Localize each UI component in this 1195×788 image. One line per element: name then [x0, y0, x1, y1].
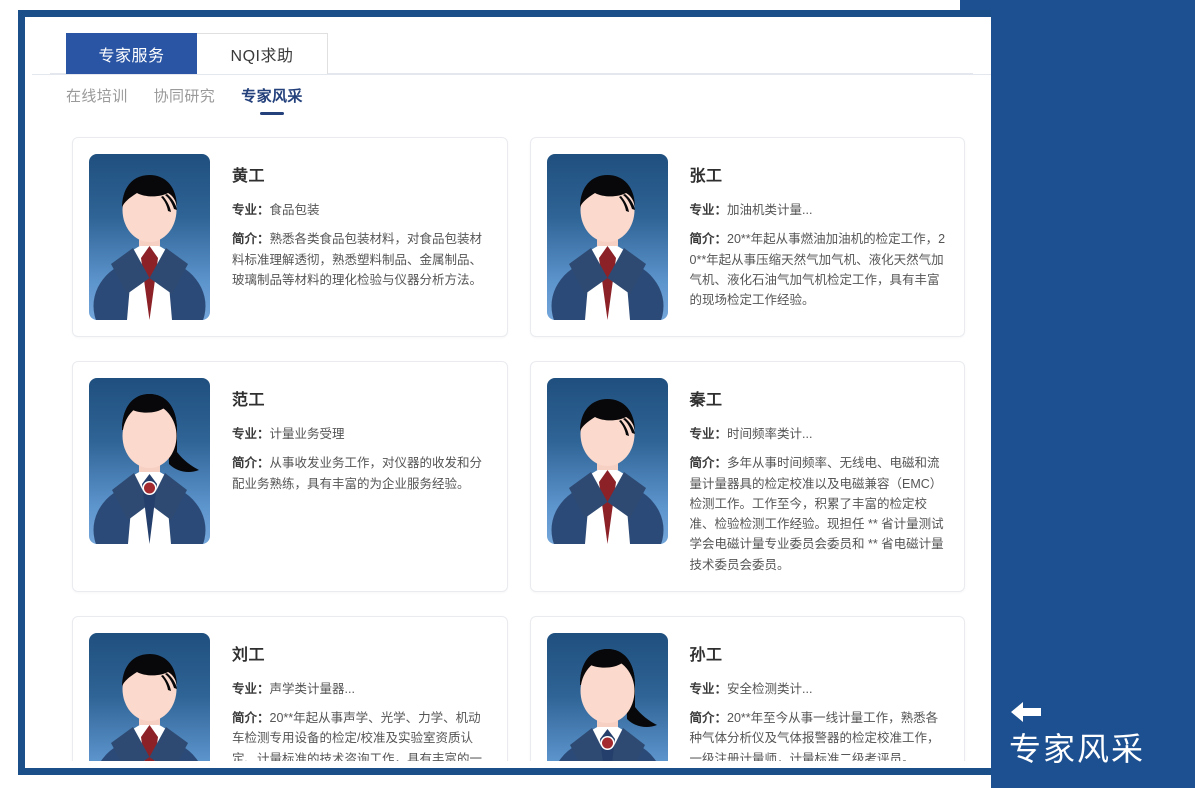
expert-major-row: 专业：声学类计量器...	[232, 679, 489, 699]
tab-expert-service-label: 专家服务	[98, 42, 164, 66]
intro-value: 20**年起从事声学、光学、力学、机动车检测专用设备的检定/校准及实验室资质认定…	[232, 711, 482, 761]
intro-label: 简介：	[690, 232, 728, 246]
expert-card[interactable]: 黄工 专业：食品包装 简介：熟悉各类食品包装材料，对食品包装材料标准理解透彻，熟…	[72, 137, 508, 337]
intro-value: 20**年至今从事一线计量工作，熟悉各种气体分析仪及气体报警器的检定校准工作，一…	[690, 711, 940, 761]
avatar	[89, 378, 210, 544]
major-value: 时间频率类计...	[727, 427, 812, 441]
avatar	[547, 154, 668, 320]
expert-info: 孙工 专业：安全检测类计... 简介：20**年至今从事一线计量工作，熟悉各种气…	[668, 633, 949, 761]
expert-card[interactable]: 孙工 专业：安全检测类计... 简介：20**年至今从事一线计量工作，熟悉各种气…	[530, 616, 966, 761]
app-window-frame: 专家服务 NQI求助 在线培训 协同研究 专家风采	[18, 10, 991, 775]
major-value: 计量业务受理	[270, 427, 345, 441]
male-avatar-icon	[89, 633, 210, 761]
intro-value: 从事收发业务工作，对仪器的收发和分配业务熟练，具有丰富的为企业服务经验。	[232, 456, 482, 490]
expert-card[interactable]: 刘工 专业：声学类计量器... 简介：20**年起从事声学、光学、力学、机动车检…	[72, 616, 508, 761]
expert-intro-row: 简介：20**年至今从事一线计量工作，熟悉各种气体分析仪及气体报警器的检定校准工…	[690, 708, 947, 761]
screen-root: 专家服务 NQI求助 在线培训 协同研究 专家风采	[0, 0, 1195, 788]
expert-name: 张工	[690, 162, 947, 186]
avatar	[547, 633, 668, 761]
major-label: 专业：	[690, 682, 728, 696]
expert-intro-row: 简介：20**年起从事声学、光学、力学、机动车检测专用设备的检定/校准及实验室资…	[232, 708, 489, 761]
major-value: 加油机类计量...	[727, 203, 812, 217]
intro-value: 20**年起从事燃油加油机的检定工作，20**年起从事压缩天然气加气机、液化天然…	[690, 232, 946, 307]
expert-info: 秦工 专业：时间频率类计... 简介：多年从事时间频率、无线电、电磁和流量计量器…	[668, 378, 949, 575]
expert-name: 黄工	[232, 162, 489, 186]
tab-nqi-help-label: NQI求助	[231, 42, 294, 66]
intro-value: 熟悉各类食品包装材料，对食品包装材料标准理解透彻，熟悉塑料制品、金属制品、玻璃制…	[232, 232, 482, 287]
expert-intro-row: 简介：20**年起从事燃油加油机的检定工作，20**年起从事压缩天然气加气机、液…	[690, 229, 947, 310]
intro-label: 简介：	[232, 711, 270, 725]
subtab-collaborative-research[interactable]: 协同研究	[154, 85, 216, 115]
expert-info: 范工 专业：计量业务受理 简介：从事收发业务工作，对仪器的收发和分配业务熟练，具…	[210, 378, 491, 575]
expert-major-row: 专业：安全检测类计...	[690, 679, 947, 699]
expert-name: 秦工	[690, 386, 947, 410]
expert-major-row: 专业：时间频率类计...	[690, 424, 947, 444]
expert-card[interactable]: 范工 专业：计量业务受理 简介：从事收发业务工作，对仪器的收发和分配业务熟练，具…	[72, 361, 508, 592]
intro-value: 多年从事时间频率、无线电、电磁和流量计量器具的检定校准以及电磁兼容（EMC）检测…	[690, 456, 944, 571]
app-content: 专家服务 NQI求助 在线培训 协同研究 专家风采	[32, 24, 991, 761]
expert-card[interactable]: 秦工 专业：时间频率类计... 简介：多年从事时间频率、无线电、电磁和流量计量器…	[530, 361, 966, 592]
subtab-collaborative-research-label: 协同研究	[154, 88, 216, 105]
avatar	[89, 154, 210, 320]
subtab-expert-showcase-label: 专家风采	[241, 88, 303, 105]
sub-tab-bar: 在线培训 协同研究 专家风采	[32, 75, 991, 115]
expert-name: 范工	[232, 386, 489, 410]
female-avatar-icon	[547, 633, 668, 761]
major-label: 专业：	[232, 427, 270, 441]
tab-expert-service[interactable]: 专家服务	[66, 33, 197, 74]
intro-label: 简介：	[690, 711, 728, 725]
expert-info: 刘工 专业：声学类计量器... 简介：20**年起从事声学、光学、力学、机动车检…	[210, 633, 491, 761]
avatar	[547, 378, 668, 544]
male-avatar-icon	[547, 154, 668, 320]
main-tab-strip: 专家服务 NQI求助	[66, 33, 328, 74]
subtab-online-training-label: 在线培训	[66, 88, 128, 105]
expert-major-row: 专业：加油机类计量...	[690, 200, 947, 220]
major-value: 安全检测类计...	[727, 682, 812, 696]
expert-intro-row: 简介：从事收发业务工作，对仪器的收发和分配业务熟练，具有丰富的为企业服务经验。	[232, 453, 489, 494]
major-label: 专业：	[232, 203, 270, 217]
expert-card[interactable]: 张工 专业：加油机类计量... 简介：20**年起从事燃油加油机的检定工作，20…	[530, 137, 966, 337]
expert-name: 孙工	[690, 641, 947, 665]
side-panel-title: 专家风采	[1009, 731, 1195, 768]
expert-major-row: 专业：计量业务受理	[232, 424, 489, 444]
expert-intro-row: 简介：熟悉各类食品包装材料，对食品包装材料标准理解透彻，熟悉塑料制品、金属制品、…	[232, 229, 489, 290]
male-avatar-icon	[547, 378, 668, 544]
intro-label: 简介：	[232, 456, 270, 470]
main-tab-bar: 专家服务 NQI求助	[32, 33, 991, 75]
major-value: 食品包装	[270, 203, 320, 217]
subtab-expert-showcase[interactable]: 专家风采	[241, 85, 303, 115]
major-label: 专业：	[232, 682, 270, 696]
intro-label: 简介：	[232, 232, 270, 246]
expert-name: 刘工	[232, 641, 489, 665]
tab-nqi-help[interactable]: NQI求助	[197, 33, 328, 74]
expert-card-grid: 黄工 专业：食品包装 简介：熟悉各类食品包装材料，对食品包装材料标准理解透彻，熟…	[32, 115, 991, 761]
side-panel: 专家风采	[991, 0, 1195, 788]
subtab-online-training[interactable]: 在线培训	[66, 85, 128, 115]
major-value: 声学类计量器...	[270, 682, 355, 696]
major-label: 专业：	[690, 427, 728, 441]
avatar	[89, 633, 210, 761]
expert-intro-row: 简介：多年从事时间频率、无线电、电磁和流量计量器具的检定校准以及电磁兼容（EMC…	[690, 453, 947, 575]
expert-major-row: 专业：食品包装	[232, 200, 489, 220]
expert-info: 张工 专业：加油机类计量... 简介：20**年起从事燃油加油机的检定工作，20…	[668, 154, 949, 320]
female-avatar-icon	[89, 378, 210, 544]
expert-info: 黄工 专业：食品包装 简介：熟悉各类食品包装材料，对食品包装材料标准理解透彻，熟…	[210, 154, 491, 320]
intro-label: 简介：	[690, 456, 728, 470]
arrow-left-icon[interactable]	[1009, 699, 1045, 725]
major-label: 专业：	[690, 203, 728, 217]
male-avatar-icon	[89, 154, 210, 320]
